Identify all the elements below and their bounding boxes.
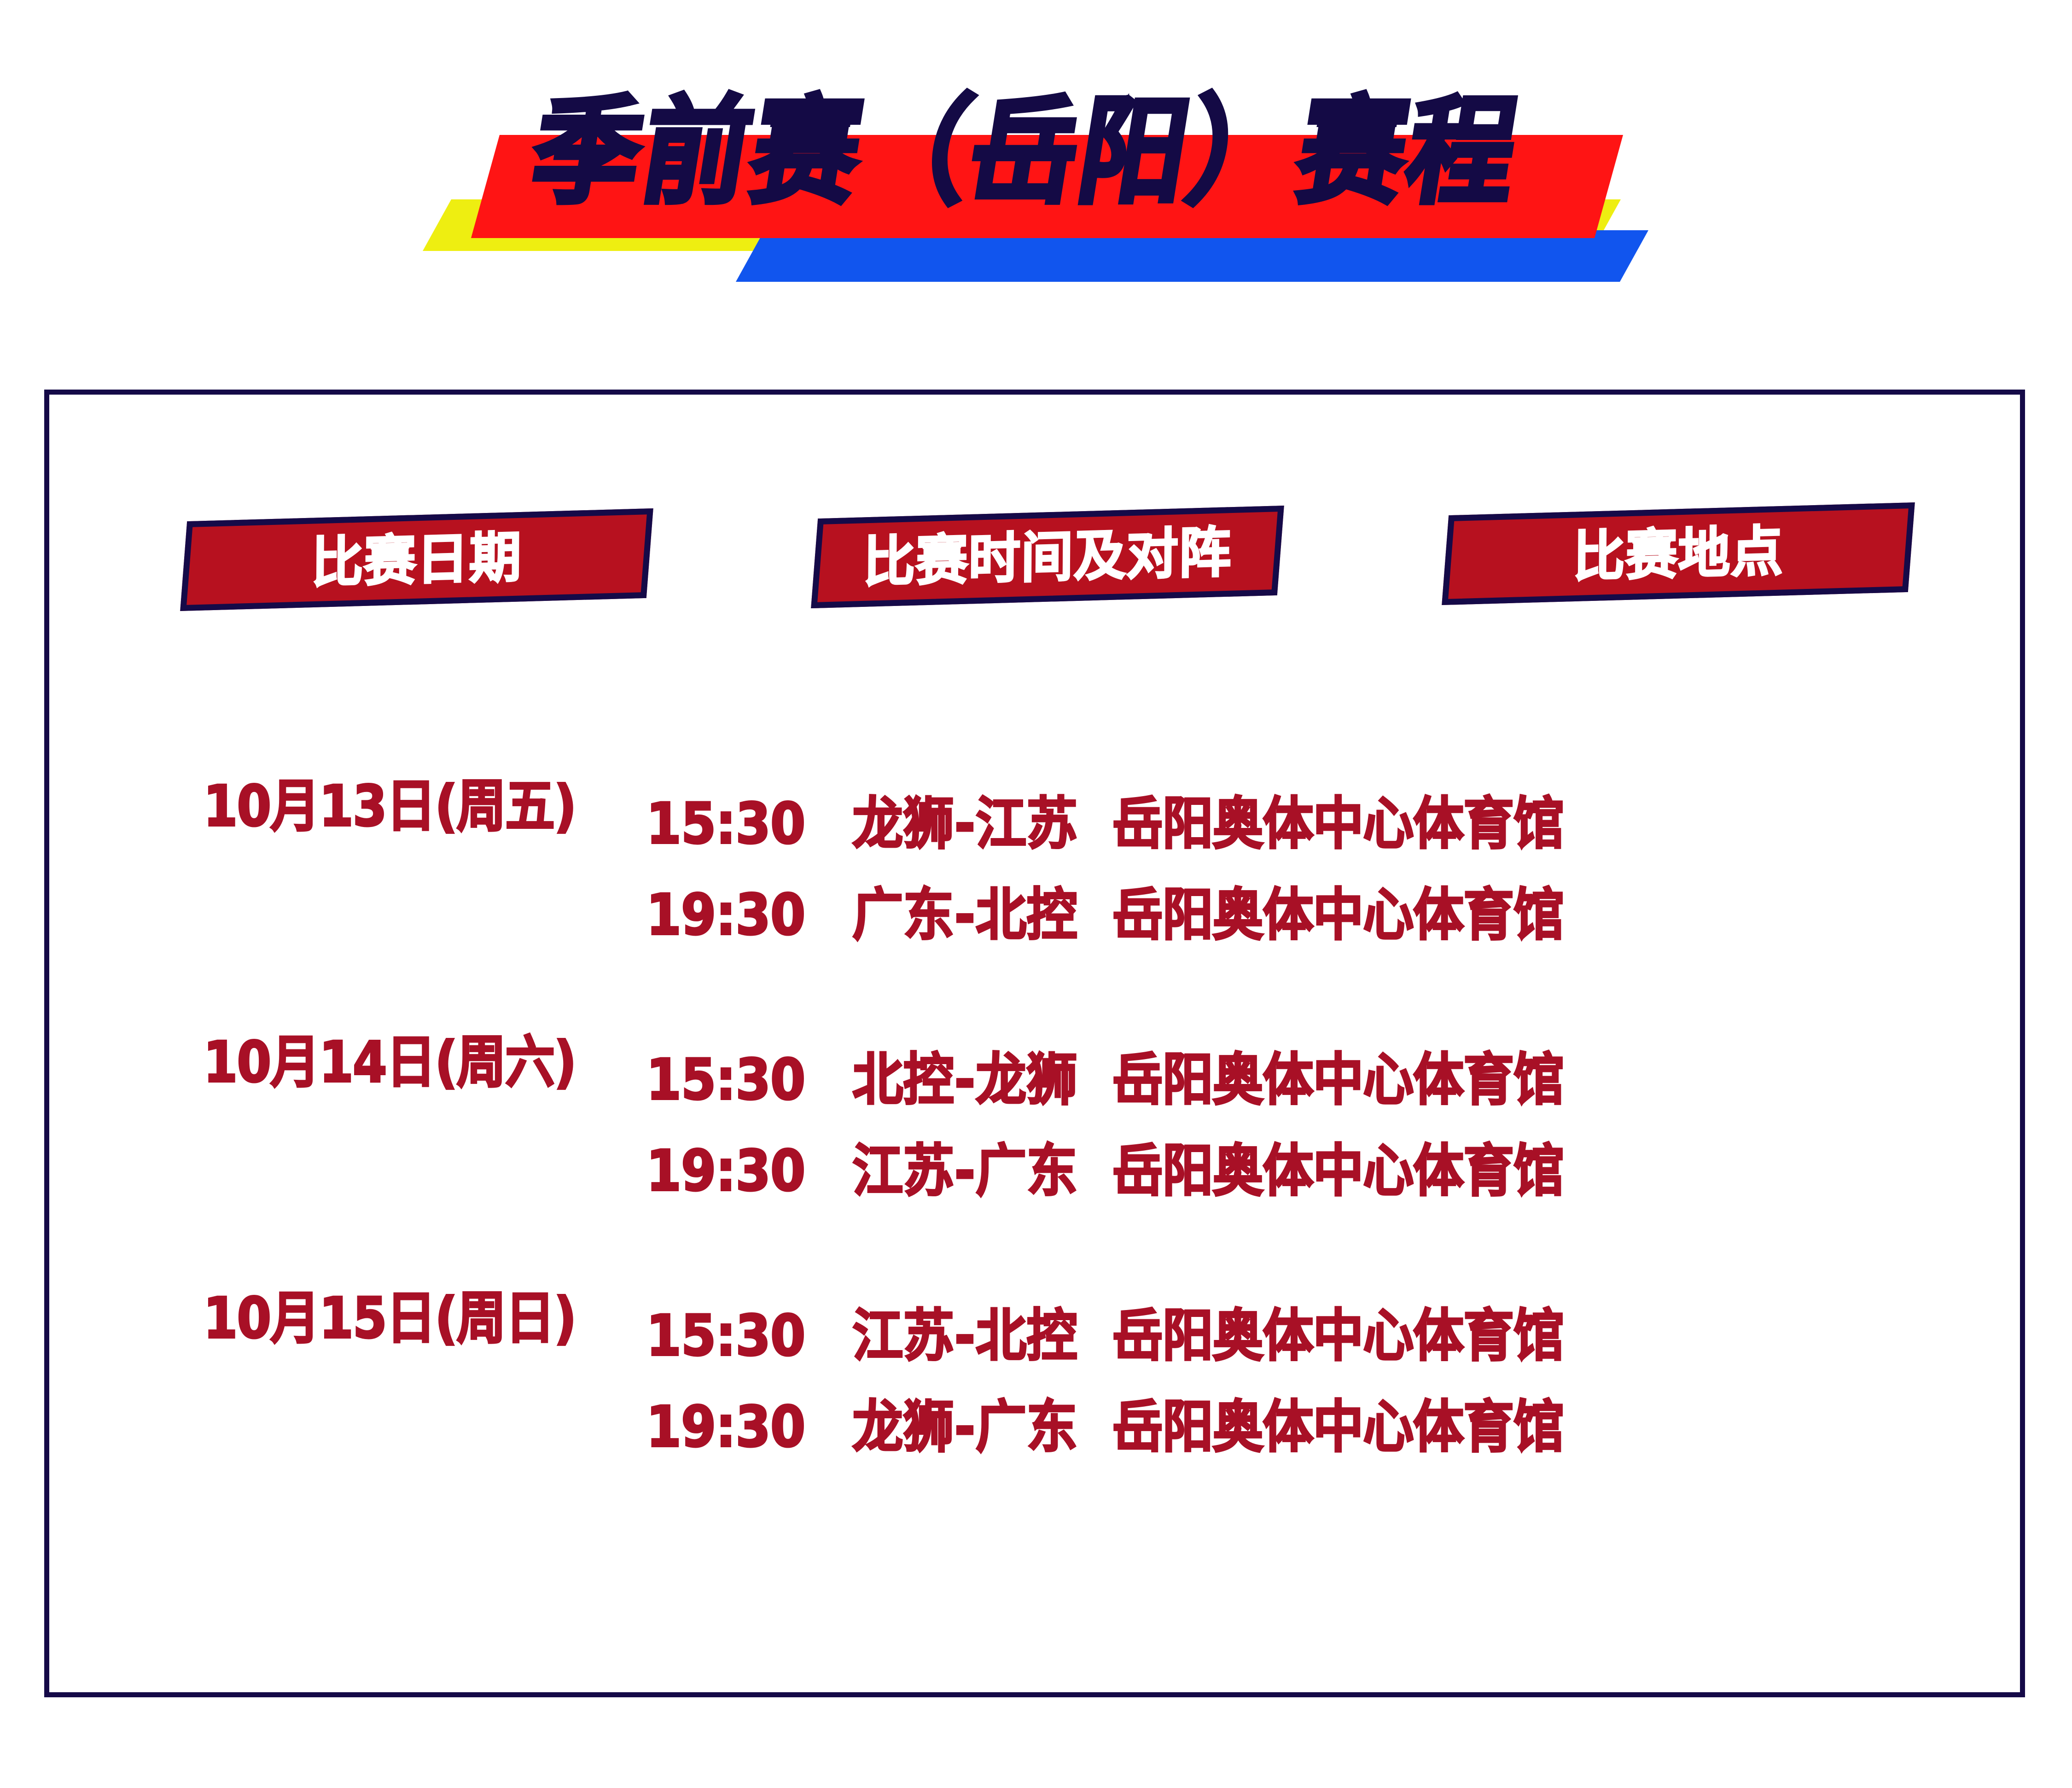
column-header-date: 比赛日期 (180, 508, 653, 611)
column-header-place-label: 比赛地点 (1573, 524, 1784, 583)
match-time: 15:30 (643, 1308, 809, 1364)
match-time: 15:30 (643, 796, 809, 852)
match-time: 19:30 (643, 1399, 809, 1455)
table-row: 19:30 江苏-广东 岳阳奥体中心体育馆 (634, 1125, 2025, 1217)
match-teams: 江苏-广东 (832, 1143, 1098, 1199)
match-teams: 江苏-北控 (832, 1308, 1098, 1364)
column-header-time-and-match-label: 比赛时间及对阵 (863, 524, 1232, 589)
match-time: 19:30 (643, 1143, 809, 1199)
column-header-time-and-match: 比赛时间及对阵 (811, 506, 1284, 608)
match-venue: 岳阳奥体中心体育馆 (1112, 1308, 1734, 1364)
match-teams: 广东-北控 (832, 887, 1098, 943)
match-teams: 龙狮-广东 (832, 1399, 1098, 1455)
schedule-day-group: 10月14日(周六) 15:30 北控-龙狮 岳阳奥体中心体育馆 19:30 江… (44, 1034, 2025, 1217)
game-list: 15:30 龙狮-江苏 岳阳奥体中心体育馆 19:30 广东-北控 岳阳奥体中心… (634, 778, 2025, 961)
table-row: 19:30 龙狮-广东 岳阳奥体中心体育馆 (634, 1381, 2025, 1473)
game-list: 15:30 北控-龙狮 岳阳奥体中心体育馆 19:30 江苏-广东 岳阳奥体中心… (634, 1034, 2025, 1217)
match-date: 10月14日(周六) (183, 1034, 596, 1090)
table-row: 15:30 江苏-北控 岳阳奥体中心体育馆 (634, 1290, 2025, 1381)
game-list: 15:30 江苏-北控 岳阳奥体中心体育馆 19:30 龙狮-广东 岳阳奥体中心… (634, 1290, 2025, 1473)
match-time: 19:30 (643, 887, 809, 943)
banner: 季前赛（岳阳）赛程 (0, 0, 2072, 322)
schedule-day-group: 10月15日(周日) 15:30 江苏-北控 岳阳奥体中心体育馆 19:30 龙… (44, 1290, 2025, 1473)
match-date: 10月13日(周五) (183, 778, 596, 834)
match-venue: 岳阳奥体中心体育馆 (1112, 1052, 1734, 1108)
match-venue: 岳阳奥体中心体育馆 (1112, 887, 1734, 943)
table-row: 15:30 北控-龙狮 岳阳奥体中心体育馆 (634, 1034, 2025, 1125)
match-venue: 岳阳奥体中心体育馆 (1112, 1399, 1734, 1455)
schedule-day-group: 10月13日(周五) 15:30 龙狮-江苏 岳阳奥体中心体育馆 19:30 广… (44, 778, 2025, 961)
schedule-body: 10月13日(周五) 15:30 龙狮-江苏 岳阳奥体中心体育馆 19:30 广… (44, 778, 2025, 1473)
column-header-place: 比赛地点 (1442, 502, 1915, 605)
match-time: 15:30 (643, 1052, 809, 1108)
column-header-date-label: 比赛日期 (311, 530, 522, 589)
match-venue: 岳阳奥体中心体育馆 (1112, 1143, 1734, 1199)
match-teams: 北控-龙狮 (832, 1052, 1098, 1108)
table-row: 19:30 广东-北控 岳阳奥体中心体育馆 (634, 869, 2025, 961)
match-date: 10月15日(周日) (183, 1290, 596, 1346)
table-row: 15:30 龙狮-江苏 岳阳奥体中心体育馆 (634, 778, 2025, 869)
match-teams: 龙狮-江苏 (832, 796, 1098, 852)
page-title: 季前赛（岳阳）赛程 (525, 94, 1527, 210)
match-venue: 岳阳奥体中心体育馆 (1112, 796, 1734, 852)
